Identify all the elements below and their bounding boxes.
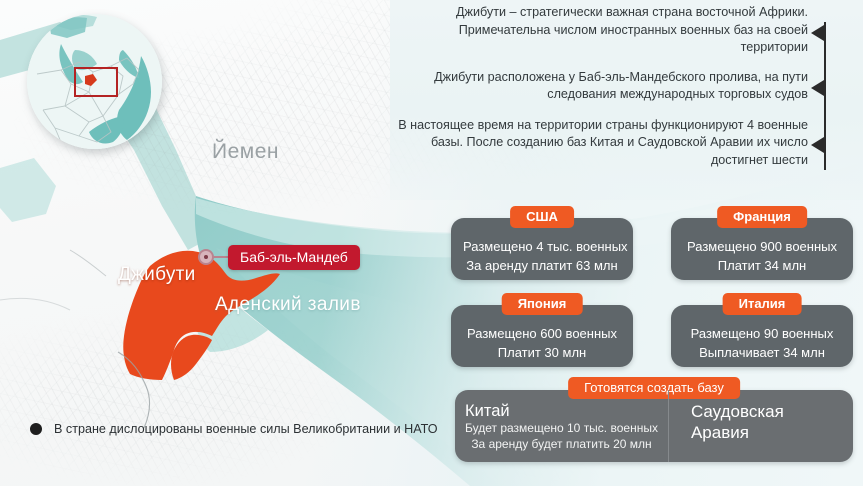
intro-axis-line	[824, 22, 826, 170]
base-card-line2-italy: Выплачивает 34 млн	[683, 343, 841, 362]
map-marker-label-bab-el-mandeb: Баб-эль-Мандеб	[228, 245, 360, 270]
arrow-marker-icon-2	[811, 80, 824, 96]
legend-note-text: В стране дислоцированы военные силы Вели…	[54, 422, 438, 436]
inset-locator-map	[27, 14, 162, 149]
intro-text-panel: Джибути – стратегически важная страна во…	[398, 4, 808, 181]
future-base-china-line1: Будет размещено 10 тыс. военных	[465, 421, 658, 437]
base-card-line2-usa: За аренду платит 63 млн	[463, 256, 621, 275]
arrow-marker-icon-3	[811, 137, 824, 153]
future-base-name-saudi-line1: Саудовская	[691, 401, 843, 422]
base-card-line1-usa: Размещено 4 тыс. военных	[463, 237, 621, 256]
intro-paragraph-2: Джибути расположена у Баб-эль-Мандебског…	[398, 69, 808, 104]
base-card-line2-japan: Платит 30 млн	[463, 343, 621, 362]
future-bases-panel: Готовятся создать базу Китай Будет разме…	[455, 390, 853, 462]
base-card-line1-italy: Размещено 90 военных	[683, 324, 841, 343]
future-base-china-line2: За аренду будет платить 20 млн	[465, 437, 658, 453]
legend-note: В стране дислоцированы военные силы Вели…	[30, 422, 438, 436]
map-marker-dot-bab-el-mandeb	[198, 249, 214, 265]
future-base-name-china: Китай	[465, 401, 658, 421]
base-card-line2-france: Платит 34 млн	[683, 256, 841, 275]
future-base-china: Китай Будет размещено 10 тыс. военных За…	[455, 390, 669, 462]
base-card-usa: США Размещено 4 тыс. военных За аренду п…	[451, 218, 633, 280]
base-card-italy: Италия Размещено 90 военных Выплачивает …	[671, 305, 853, 367]
base-card-title-japan: Япония	[502, 293, 583, 315]
base-card-title-france: Франция	[717, 206, 807, 228]
base-card-title-usa: США	[510, 206, 574, 228]
base-card-title-italy: Италия	[723, 293, 802, 315]
infographic-canvas: Йемен Джибути Аденский залив Баб-эль-Ман…	[0, 0, 863, 486]
map-label-yemen: Йемен	[212, 140, 279, 164]
future-base-name-saudi-line2: Аравия	[691, 422, 843, 443]
base-card-line1-france: Размещено 900 военных	[683, 237, 841, 256]
intro-paragraph-3: В настоящее время на территории страны ф…	[398, 117, 808, 170]
base-card-line1-japan: Размещено 600 военных	[463, 324, 621, 343]
arrow-marker-icon-1	[811, 25, 824, 41]
legend-bullet-icon	[30, 423, 42, 435]
future-base-saudi-arabia: Саудовская Аравия	[669, 390, 853, 462]
map-label-gulf-of-aden: Аденский залив	[215, 294, 361, 316]
base-card-japan: Япония Размещено 600 военных Платит 30 м…	[451, 305, 633, 367]
map-label-djibouti: Джибути	[118, 264, 196, 286]
intro-paragraph-1: Джибути – стратегически важная страна во…	[398, 4, 808, 57]
base-card-france: Франция Размещено 900 военных Платит 34 …	[671, 218, 853, 280]
